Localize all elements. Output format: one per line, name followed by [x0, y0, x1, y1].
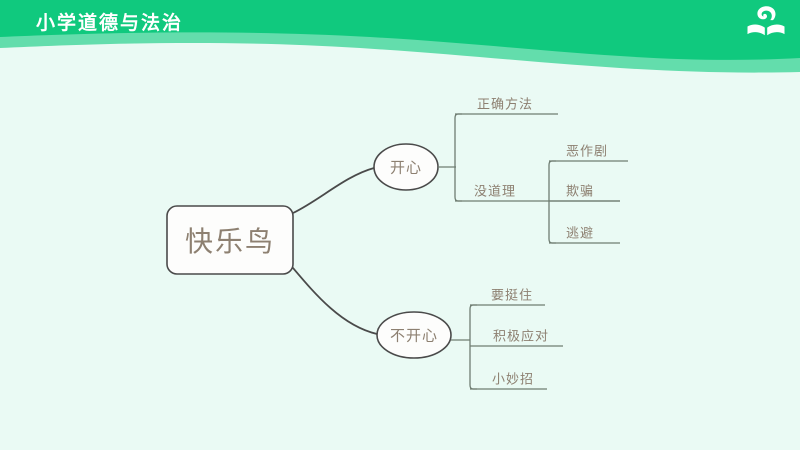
leaf-label-escape[interactable]: 逃避 — [566, 223, 594, 242]
leaf-label-little-tips[interactable]: 小妙招 — [492, 369, 534, 388]
branch-node-happy-label[interactable]: 开心 — [390, 157, 422, 178]
page-title: 小学道德与法治 — [36, 8, 183, 35]
leaf-label-respond-actively[interactable]: 积极应对 — [493, 326, 549, 345]
bracket-unhappy — [470, 305, 477, 389]
branch-node-unhappy-label[interactable]: 不开心 — [390, 325, 438, 346]
leaf-label-unreasonable[interactable]: 没道理 — [474, 181, 516, 200]
leaf-label-deception[interactable]: 欺骗 — [566, 181, 594, 200]
open-book-logo-icon — [744, 4, 788, 38]
leaf-label-hold-on[interactable]: 要挺住 — [491, 285, 533, 304]
slide-canvas: 小学道德与法治 — [0, 0, 800, 450]
connector-root-to-unhappy — [293, 268, 377, 334]
connector-root-to-happy — [293, 168, 374, 213]
leaf-label-correct-method[interactable]: 正确方法 — [477, 94, 533, 113]
root-node-label[interactable]: 快乐鸟 — [185, 220, 275, 260]
leaf-label-prank[interactable]: 恶作剧 — [566, 141, 608, 160]
mindmap-connectors — [0, 0, 800, 450]
bracket-happy — [455, 114, 462, 201]
bracket-unreasonable — [549, 161, 556, 243]
